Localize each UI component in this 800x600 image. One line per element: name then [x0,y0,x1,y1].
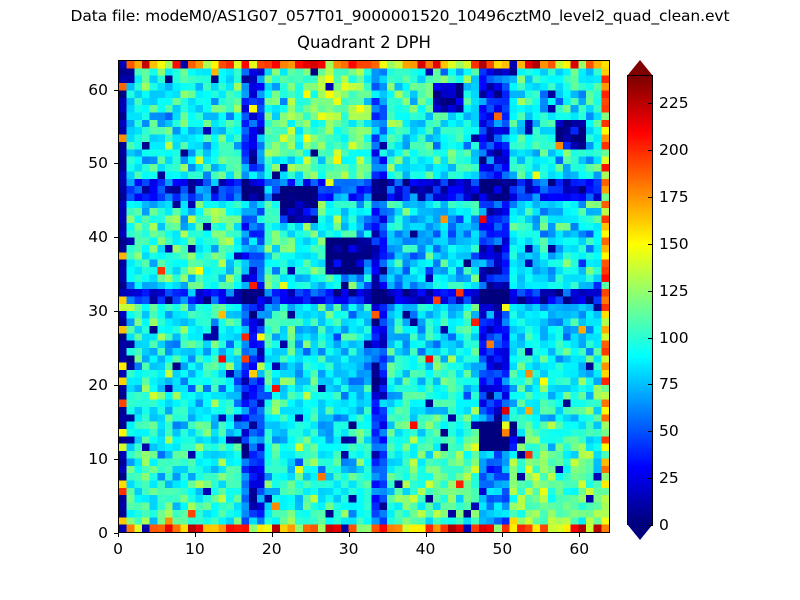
colorbar-tick-label: 125 [659,282,689,300]
colorbar-tick-mark [648,150,653,151]
data-file-suptitle: Data file: modeM0/AS1G07_057T01_90000015… [0,7,800,25]
figure-canvas: Data file: modeM0/AS1G07_057T01_90000015… [0,0,800,600]
y-tick-label: 0 [60,524,108,542]
plot-title: Quadrant 2 DPH [118,33,610,52]
colorbar-gradient-image [628,76,652,524]
colorbar-tick-mark [648,431,653,432]
x-tick-label: 20 [262,540,282,558]
colorbar-tick-label: 75 [659,375,679,393]
colorbar-extend-bottom-arrow [627,524,653,540]
x-tick-label: 30 [339,540,359,558]
colorbar[interactable] [627,60,653,540]
y-tick-mark [114,385,118,386]
x-tick-mark [426,533,427,537]
x-tick-mark [349,533,350,537]
colorbar-extend-top-arrow [627,60,653,76]
colorbar-tick-label: 175 [659,188,689,206]
y-tick-mark [114,163,118,164]
x-tick-mark [272,533,273,537]
heatmap-axes[interactable] [118,60,610,533]
colorbar-tick-label: 0 [659,516,669,534]
x-tick-mark [118,533,119,537]
y-tick-label: 40 [60,228,108,246]
colorbar-tick-mark [648,384,653,385]
colorbar-tick-label: 150 [659,235,689,253]
colorbar-tick-label: 200 [659,141,689,159]
y-tick-label: 10 [60,450,108,468]
x-tick-mark [579,533,580,537]
colorbar-tick-mark [648,478,653,479]
y-tick-mark [114,459,118,460]
x-tick-label: 0 [113,540,123,558]
colorbar-tick-label: 100 [659,329,689,347]
colorbar-tick-mark [648,244,653,245]
detector-heatmap-image[interactable] [119,61,609,532]
y-tick-mark [114,90,118,91]
colorbar-tick-mark [648,525,653,526]
colorbar-tick-mark [648,291,653,292]
y-tick-label: 60 [60,81,108,99]
y-tick-label: 50 [60,154,108,172]
colorbar-gradient [627,75,653,525]
y-tick-mark [114,533,118,534]
colorbar-tick-mark [648,338,653,339]
x-tick-label: 50 [493,540,513,558]
y-tick-label: 20 [60,376,108,394]
y-tick-mark [114,311,118,312]
x-tick-mark [195,533,196,537]
y-tick-mark [114,237,118,238]
y-tick-label: 30 [60,302,108,320]
colorbar-tick-mark [648,103,653,104]
x-tick-label: 60 [569,540,589,558]
x-tick-mark [502,533,503,537]
colorbar-tick-mark [648,197,653,198]
colorbar-tick-label: 25 [659,469,679,487]
x-tick-label: 10 [185,540,205,558]
x-tick-label: 40 [416,540,436,558]
colorbar-tick-label: 225 [659,94,689,112]
colorbar-tick-label: 50 [659,422,679,440]
